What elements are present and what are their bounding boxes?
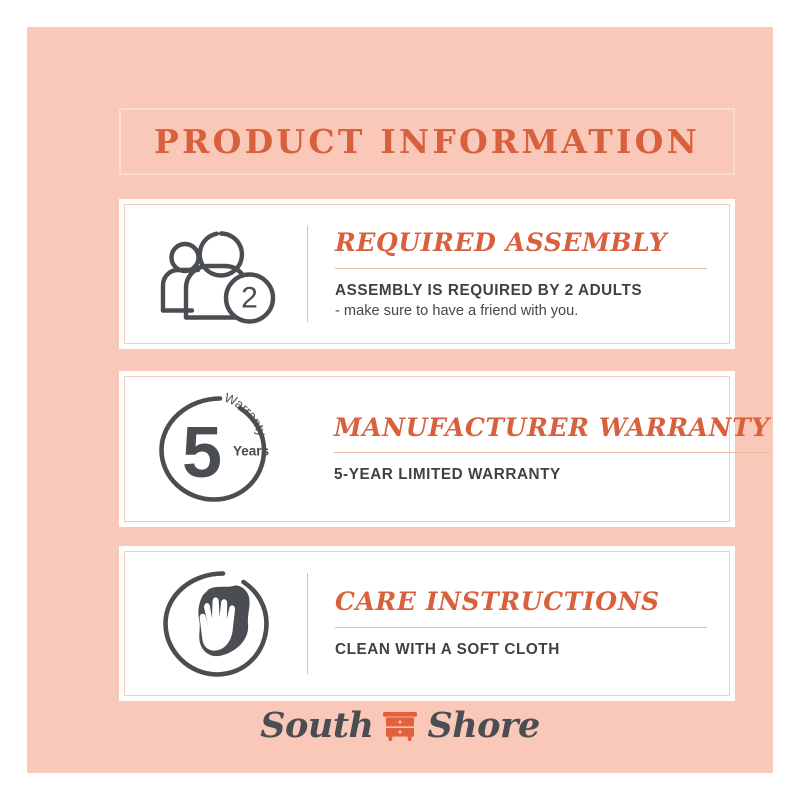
heading-rule — [334, 452, 770, 453]
text-cell: MANUFACTURER WARRANTY 5-YEAR LIMITED WAR… — [307, 414, 792, 485]
infographic-canvas: PRODUCT INFORMATION — [27, 27, 773, 773]
icon-cell: 2 — [125, 222, 307, 326]
logo-word-shore: Shore — [427, 705, 539, 746]
card-inner: CARE INSTRUCTIONS CLEAN WITH A SOFT CLOT… — [124, 551, 730, 696]
product-information-infographic: PRODUCT INFORMATION — [0, 0, 800, 800]
icon-badge-count: 2 — [241, 282, 258, 315]
brand-logo: South Shore — [0, 696, 800, 754]
card-heading: CARE INSTRUCTIONS — [335, 588, 707, 616]
card-body-primary: 5-YEAR LIMITED WARRANTY — [334, 466, 770, 484]
card-body-primary: ASSEMBLY IS REQUIRED BY 2 ADULTS — [335, 282, 707, 300]
warranty-years-unit: Years — [233, 444, 269, 459]
page-title: PRODUCT INFORMATION — [154, 122, 700, 161]
info-card-care-instructions: CARE INSTRUCTIONS CLEAN WITH A SOFT CLOT… — [119, 546, 735, 701]
nightstand-dresser-icon — [380, 705, 420, 745]
card-body-primary: CLEAN WITH A SOFT CLOTH — [335, 641, 707, 659]
warranty-arc-label: Warranty — [222, 390, 270, 439]
warranty-years-number: 5 — [182, 413, 222, 493]
five-year-warranty-seal-icon: 5 Years Warranty — [150, 389, 282, 509]
info-card-required-assembly: 2 REQUIRED ASSEMBLY ASSEMBLY IS REQUIRED… — [119, 199, 735, 349]
page-title-box: PRODUCT INFORMATION — [119, 108, 735, 175]
icon-cell: 5 Years Warranty — [125, 389, 307, 509]
card-inner: 2 REQUIRED ASSEMBLY ASSEMBLY IS REQUIRED… — [124, 204, 730, 344]
card-heading: REQUIRED ASSEMBLY — [335, 229, 707, 257]
hand-with-cleaning-cloth-icon — [157, 567, 275, 681]
heading-rule — [335, 268, 707, 269]
card-inner: 5 Years Warranty MANUFACTURER WARRANTY 5… — [124, 376, 730, 522]
heading-rule — [335, 627, 707, 628]
info-card-manufacturer-warranty: 5 Years Warranty MANUFACTURER WARRANTY 5… — [119, 371, 735, 527]
text-cell: REQUIRED ASSEMBLY ASSEMBLY IS REQUIRED B… — [308, 229, 729, 319]
text-cell: CARE INSTRUCTIONS CLEAN WITH A SOFT CLOT… — [308, 588, 729, 659]
card-heading: MANUFACTURER WARRANTY — [334, 414, 770, 442]
two-people-with-count-badge-icon: 2 — [154, 222, 278, 326]
icon-cell — [125, 567, 307, 681]
logo-word-south: South — [260, 705, 373, 746]
card-body-secondary: - make sure to have a friend with you. — [335, 303, 707, 319]
